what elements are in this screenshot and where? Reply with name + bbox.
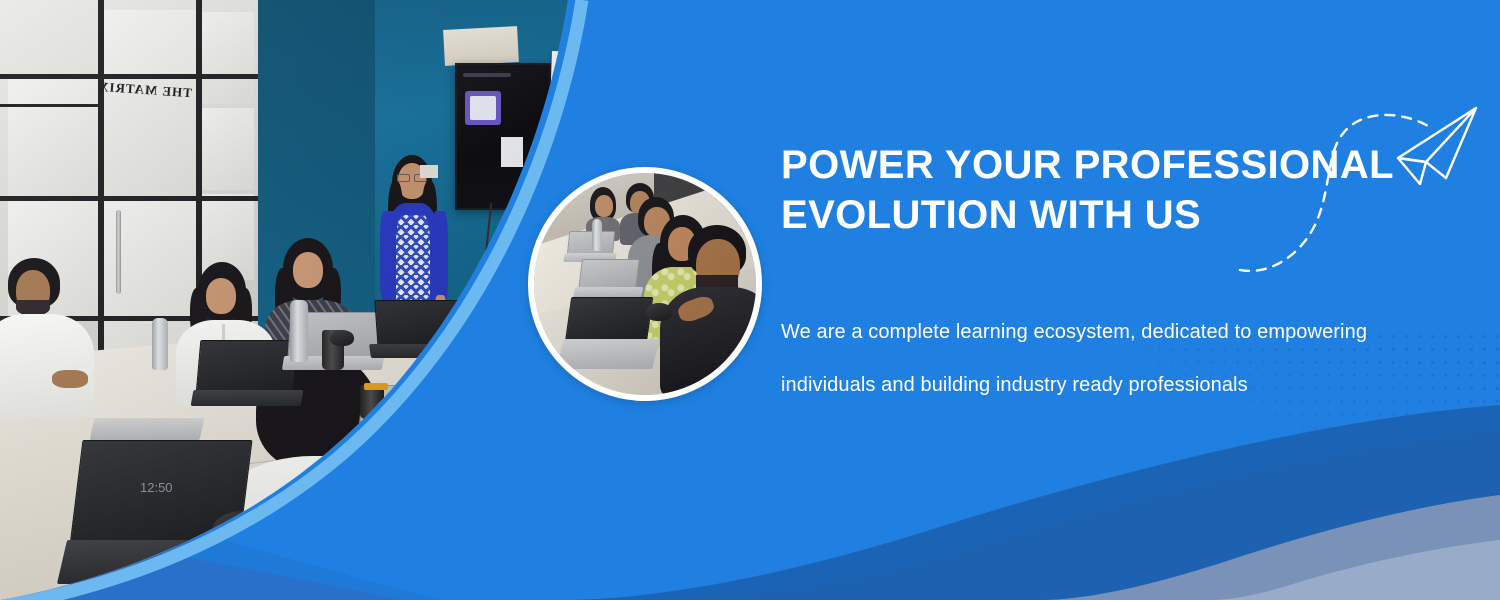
notebook-2 (419, 356, 482, 389)
paper-plane-graphic (1230, 100, 1492, 280)
paper-sheet (443, 26, 519, 66)
lab-person-foreground (670, 225, 756, 395)
person-seated-farleft (0, 258, 94, 418)
hero-subcopy-block: We are a complete learning ecosystem, de… (781, 306, 1481, 412)
wall-socket (420, 165, 438, 178)
hero-banner: THE MATRIX (0, 0, 1500, 600)
person-foreground-floral (438, 368, 588, 600)
door-handle (116, 210, 121, 294)
circle-inset-photo (528, 167, 762, 401)
laptop-top-left (92, 418, 202, 452)
headline-line-2: EVOLUTION WITH US (781, 193, 1201, 237)
laptop-clock: 12:50 (140, 480, 173, 495)
notebook (377, 403, 462, 483)
lab-bottle (592, 219, 602, 251)
laptop-presenter (370, 300, 466, 372)
lab-mouse (646, 303, 672, 321)
subcopy-line-2: individuals and building industry ready … (781, 359, 1481, 412)
lab-scene (534, 173, 756, 395)
water-bottle (290, 300, 308, 362)
mug-lid (364, 383, 388, 390)
lab-laptop-3 (560, 297, 656, 373)
computer-mouse-2 (330, 330, 354, 346)
subcopy-line-1: We are a complete learning ecosystem, de… (781, 306, 1481, 359)
dashed-trail-icon (1240, 115, 1428, 271)
travel-mug-2 (360, 385, 384, 419)
water-bottle-2 (152, 318, 168, 370)
